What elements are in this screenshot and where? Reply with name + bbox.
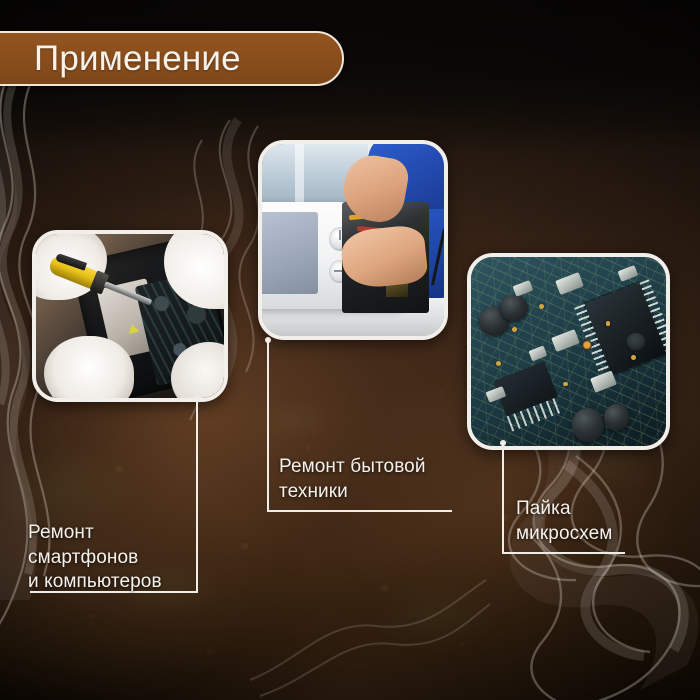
smartphone-repair-image — [36, 234, 224, 398]
connector-line-solder-vertical — [502, 443, 504, 554]
microwave-repair-image — [262, 144, 444, 336]
smartphone-repair-photo[interactable] — [32, 230, 228, 402]
page-title: Применение — [34, 41, 241, 76]
caption-phone-repair: Ремонт смартфонов и компьютеров — [28, 521, 162, 595]
connector-line-appliance-vertical — [267, 340, 269, 512]
circuit-board-image — [471, 257, 666, 446]
slide-canvas: Применение — [0, 0, 700, 700]
connector-line-appliance-horizontal — [267, 510, 452, 512]
caption-appliance-repair: Ремонт бытовой техники — [279, 455, 426, 504]
circuit-board-photo[interactable] — [467, 253, 670, 450]
page-title-banner: Применение — [0, 31, 344, 86]
connector-line-phone-vertical — [196, 399, 198, 593]
caption-chip-soldering: Пайка микросхем — [516, 497, 612, 546]
connector-line-solder-horizontal — [502, 552, 625, 554]
microwave-repair-photo[interactable] — [258, 140, 448, 340]
